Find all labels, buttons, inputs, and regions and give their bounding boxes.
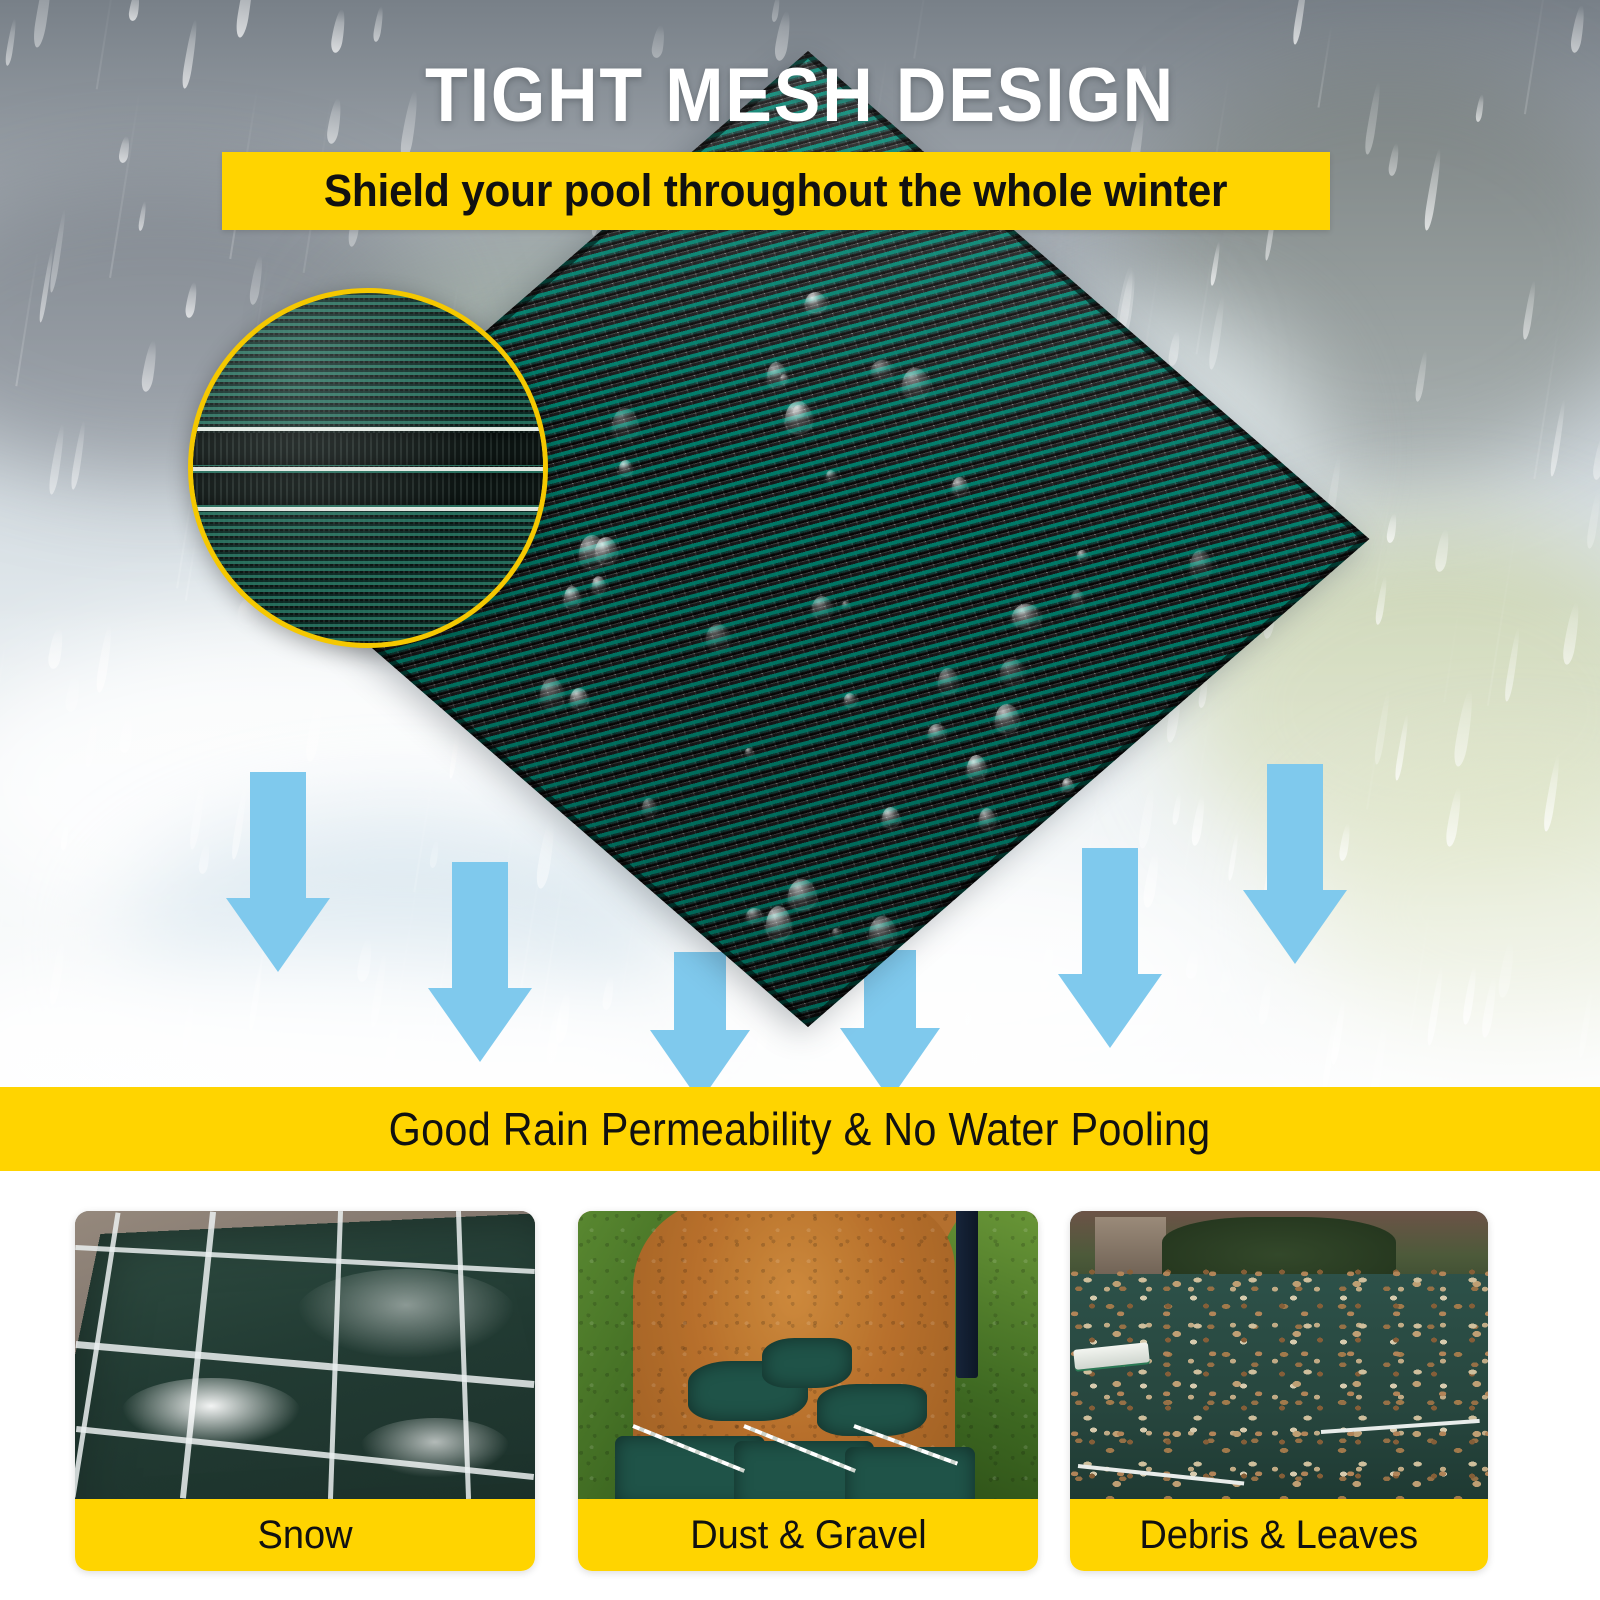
card-caption-label: Snow: [257, 1513, 352, 1558]
water-droplet-icon: [746, 908, 763, 922]
water-droplet-icon: [812, 596, 832, 618]
use-case-card-debris-leaves[interactable]: Debris & Leaves: [1070, 1211, 1488, 1571]
water-droplet-icon: [1077, 550, 1087, 560]
water-droplet-icon: [595, 537, 617, 563]
magnifier-circle-icon: [188, 288, 548, 648]
card-caption-label: Dust & Gravel: [690, 1513, 927, 1558]
water-droplet-icon: [952, 477, 967, 494]
water-droplet-icon: [706, 624, 730, 649]
product-feature-image: TIGHT MESH DESIGN Shield your pool throu…: [0, 0, 1600, 1600]
water-droplet-icon: [788, 879, 816, 909]
water-droplet-icon: [793, 405, 805, 415]
water-droplet-icon: [745, 748, 753, 755]
rain-permeability-text: Good Rain Permeability & No Water Poolin…: [389, 1102, 1211, 1156]
water-droplet-icon: [592, 576, 605, 593]
water-droplet-icon: [612, 408, 638, 440]
water-droplet-icon: [540, 678, 564, 709]
subtitle-text: Shield your pool throughout the whole wi…: [324, 165, 1227, 217]
water-droplet-icon: [995, 704, 1019, 732]
use-case-card-strip: Snow: [0, 1171, 1600, 1600]
water-droplet-icon: [642, 798, 656, 816]
hero-section: TIGHT MESH DESIGN Shield your pool throu…: [0, 0, 1600, 1090]
water-droplet-icon: [1000, 659, 1025, 684]
water-droplet-icon: [1071, 590, 1084, 606]
card-caption-snow: Snow: [75, 1499, 535, 1571]
card-photo-dust-gravel: [578, 1211, 1038, 1499]
card-caption-dust-gravel: Dust & Gravel: [578, 1499, 1038, 1571]
water-droplet-icon: [871, 360, 894, 378]
subtitle-banner: Shield your pool throughout the whole wi…: [222, 152, 1330, 230]
use-case-card-dust-gravel[interactable]: Dust & Gravel: [578, 1211, 1038, 1571]
water-droplet-icon: [938, 668, 958, 693]
use-case-card-snow[interactable]: Snow: [75, 1211, 535, 1571]
water-droplet-icon: [619, 460, 632, 475]
water-droplet-icon: [869, 916, 896, 947]
water-droplet-icon: [805, 292, 826, 312]
water-droplet-icon: [902, 368, 929, 398]
water-droplet-icon: [1190, 550, 1211, 578]
water-droplet-icon: [832, 928, 841, 936]
water-droplet-icon: [570, 688, 588, 708]
rain-permeability-banner: Good Rain Permeability & No Water Poolin…: [0, 1087, 1600, 1171]
card-photo-snow: [75, 1211, 535, 1499]
water-droplet-icon: [928, 724, 946, 740]
water-droplet-icon: [1062, 778, 1073, 791]
card-caption-label: Debris & Leaves: [1140, 1513, 1419, 1558]
water-droplet-icon: [767, 362, 786, 387]
card-caption-debris-leaves: Debris & Leaves: [1070, 1499, 1488, 1571]
page-title: TIGHT MESH DESIGN: [64, 52, 1536, 139]
water-droplet-icon: [766, 906, 791, 939]
water-droplet-icon: [967, 755, 986, 779]
water-droplet-icon: [826, 470, 836, 481]
water-droplet-icon: [564, 586, 580, 608]
card-photo-debris-leaves: [1070, 1211, 1488, 1499]
water-droplet-icon: [844, 693, 856, 706]
water-droplet-icon: [882, 807, 899, 827]
water-droplet-icon: [979, 808, 995, 829]
water-droplet-icon: [1012, 604, 1041, 627]
water-droplet-icon: [842, 601, 849, 608]
